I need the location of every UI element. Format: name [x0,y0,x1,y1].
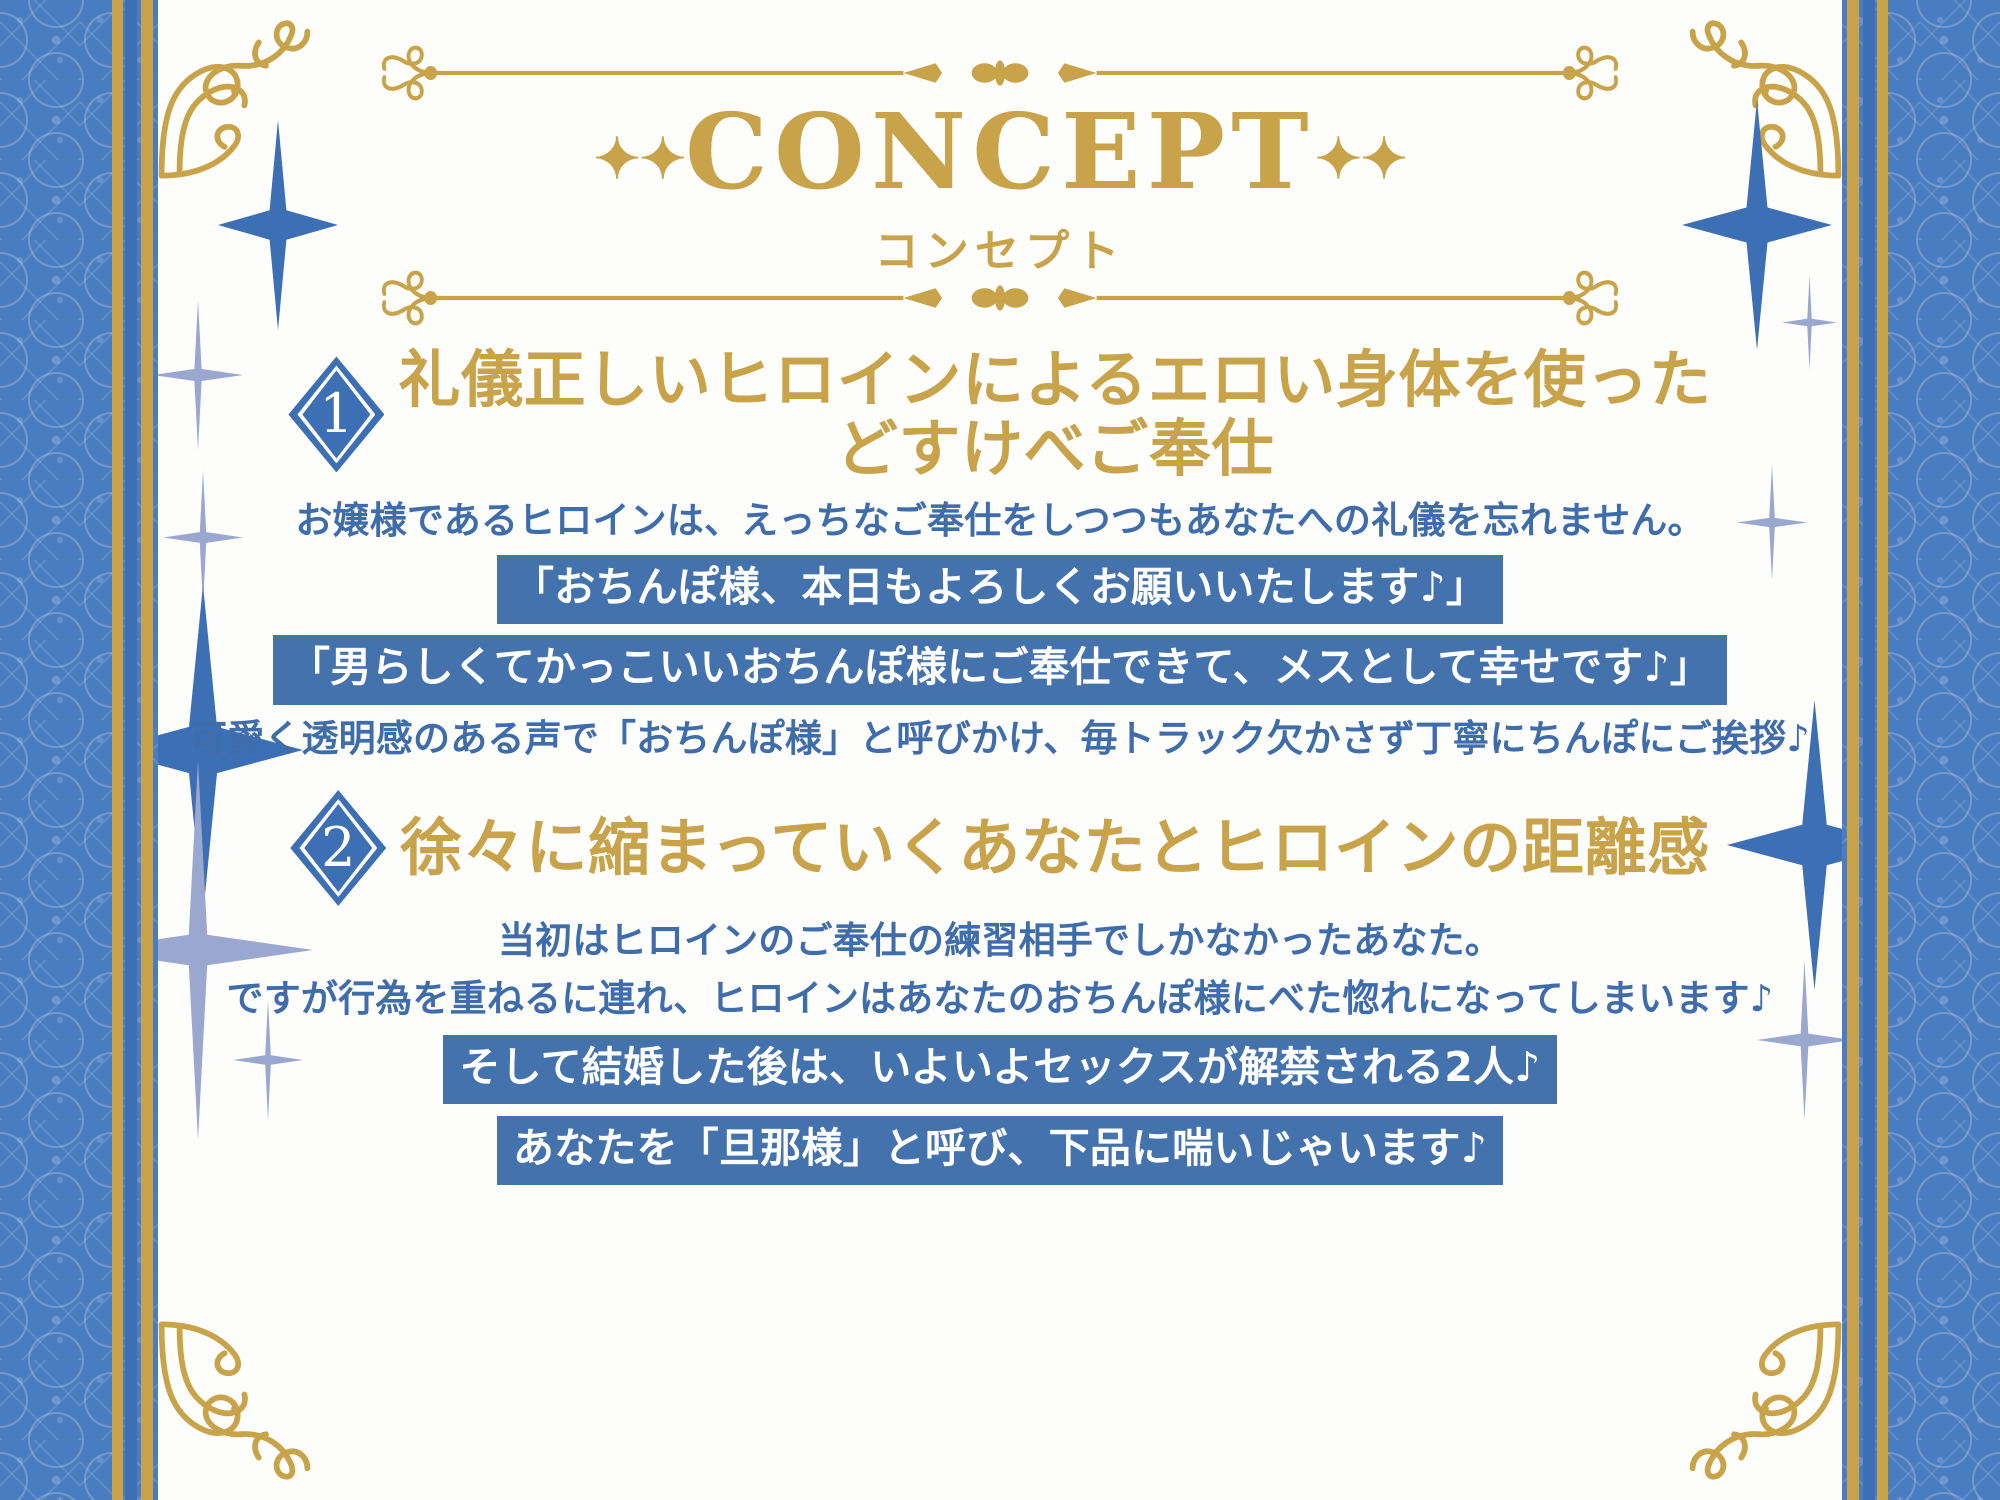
section-1-heading: 1 礼儀正しいヒロインによるエロい身体を使った どすけべご奉仕 [178,345,1822,484]
section-2-line-2: ですが行為を重ねるに連れ、ヒロインはあなたのおちんぽ様にべた惚れになってしまいま… [178,976,1822,1022]
section-1-line-1: お嬢様であるヒロインは、えっちなご奉仕をしつつもあなたへの礼儀を忘れません。 [178,498,1822,544]
concept-section-2: 2 徐々に縮まっていくあなたとヒロインの距離感 当初はヒロインのご奉仕の練習相手… [178,790,1822,1185]
section-1-quote-2-wrap: 「男らしくてかっこいいおちんぽ様にご奉仕できて、メスとして幸せです♪」 [178,635,1822,704]
lace-pattern-right [1888,0,2000,1500]
border-rails-left [112,0,158,1500]
section-number-badge: 1 [288,356,384,472]
quote-highlight-box: そして結婚した後は、いよいよセックスが解禁される2人♪ [443,1035,1556,1104]
section-number-badge: 2 [290,790,386,906]
sparkle-right-glyph: ✦✦ [1315,126,1407,192]
section-number-label: 1 [319,387,353,441]
section-2-body: 当初はヒロインのご奉仕の練習相手でしかなかったあなた。 ですが行為を重ねるに連れ… [178,918,1822,1185]
section-1-line-4: 可愛く透明感のある声で「おちんぽ様」と呼びかけ、毎トラック欠かさず丁寧にちんぽに… [178,716,1822,762]
page-title: ✦✦CONCEPT✦✦ [158,100,1842,204]
section-2-quote-2-wrap: あなたを「旦那様」と呼び、下品に喘いじゃいます♪ [178,1116,1822,1185]
quote-highlight-box: あなたを「旦那様」と呼び、下品に喘いじゃいます♪ [497,1116,1503,1185]
quote-highlight-box: 「男らしくてかっこいいおちんぽ様にご奉仕できて、メスとして幸せです♪」 [273,635,1727,704]
section-2-heading: 2 徐々に縮まっていくあなたとヒロインの距離感 [178,790,1822,906]
corner-flourish-icon [1680,1310,1842,1490]
section-1-body: お嬢様であるヒロインは、えっちなご奉仕をしつつもあなたへの礼儀を忘れません。 「… [178,498,1822,762]
section-2-line-1: 当初はヒロインのご奉仕の練習相手でしかなかったあなた。 [178,918,1822,964]
section-1-quote-1-wrap: 「おちんぽ様、本日もよろしくお願いいたします♪」 [178,555,1822,624]
border-rails-right [1842,0,1888,1500]
page-title-text: CONCEPT [685,90,1315,213]
section-2-quote-1-wrap: そして結婚した後は、いよいよセックスが解禁される2人♪ [178,1035,1822,1104]
page-subtitle: コンセプト [158,215,1842,279]
section-1-title-line2: どすけべご奉仕 [398,414,1711,483]
concept-section-1: 1 礼儀正しいヒロインによるエロい身体を使った どすけべご奉仕 お嬢様であるヒロ… [178,345,1822,762]
lace-pattern-left [0,0,112,1500]
section-number-label: 2 [321,821,355,875]
sparkle-left-glyph: ✦✦ [594,126,686,192]
content-card: ✦✦CONCEPT✦✦ コンセプト 1 礼儀正しいヒロインによるエロい身体を使っ… [158,0,1842,1500]
section-1-title-line1: 礼儀正しいヒロインによるエロい身体を使った [398,343,1711,416]
corner-flourish-icon [158,1310,320,1490]
section-2-title-line1: 徐々に縮まっていくあなたとヒロインの距離感 [400,811,1709,884]
page-background: ✦✦CONCEPT✦✦ コンセプト 1 礼儀正しいヒロインによるエロい身体を使っ… [0,0,2000,1500]
section-1-title: 礼儀正しいヒロインによるエロい身体を使った どすけべご奉仕 [398,345,1711,484]
quote-highlight-box: 「おちんぽ様、本日もよろしくお願いいたします♪」 [497,555,1503,624]
section-2-title: 徐々に縮まっていくあなたとヒロインの距離感 [400,813,1709,882]
